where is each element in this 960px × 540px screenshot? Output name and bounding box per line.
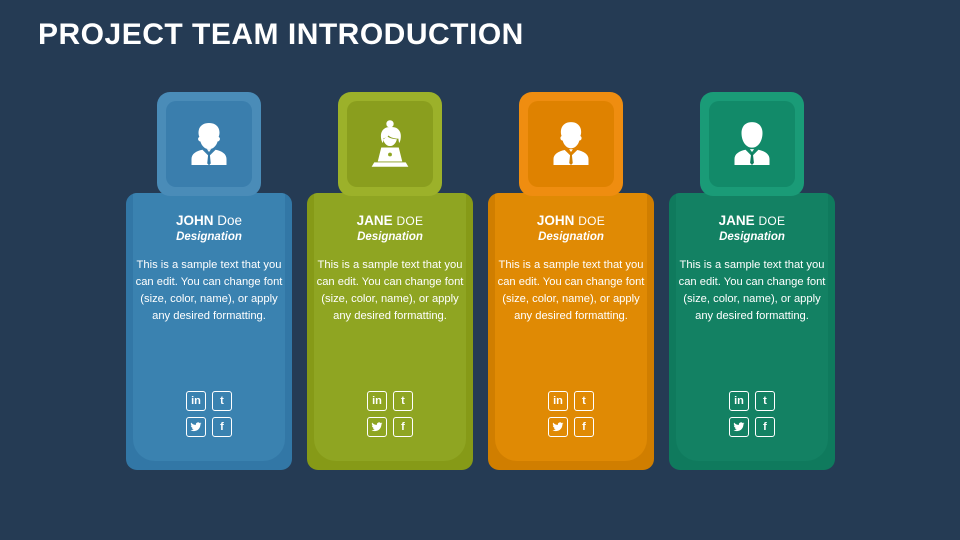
member-first-name: JANE	[719, 213, 755, 228]
member-designation: Designation	[669, 231, 835, 243]
man-silhouette-in-suit-icon	[528, 101, 614, 187]
twitter-icon[interactable]	[367, 417, 387, 437]
team-member-card[interactable]: JOHN Doe Designation This is a sample te…	[126, 92, 292, 470]
member-first-name: JOHN	[537, 213, 575, 228]
member-last-name: DOE	[578, 214, 605, 228]
linkedin-icon[interactable]: in	[548, 391, 568, 411]
team-card-deck: JOHN Doe Designation This is a sample te…	[126, 92, 836, 472]
linkedin-icon[interactable]: in	[729, 391, 749, 411]
slide-canvas: PROJECT TEAM INTRODUCTION JOHN Doe Desig…	[0, 0, 960, 540]
member-card-body: JANE DOE Designation This is a sample te…	[307, 193, 473, 470]
tumblr-icon[interactable]: t	[574, 391, 594, 411]
tumblr-icon[interactable]: t	[755, 391, 775, 411]
linkedin-icon[interactable]: in	[367, 391, 387, 411]
member-designation: Designation	[488, 231, 654, 243]
member-description: This is a sample text that you can edit.…	[126, 257, 292, 325]
member-name: JANE DOE	[669, 213, 835, 229]
member-description: This is a sample text that you can edit.…	[307, 257, 473, 325]
linkedin-icon[interactable]: in	[186, 391, 206, 411]
member-name: JANE DOE	[307, 213, 473, 229]
social-links: intf	[721, 391, 783, 437]
member-avatar-tile	[338, 92, 442, 196]
tumblr-icon[interactable]: t	[212, 391, 232, 411]
member-first-name: JANE	[357, 213, 393, 228]
social-links: intf	[359, 391, 421, 437]
member-name: JOHN DOE	[488, 213, 654, 229]
twitter-icon[interactable]	[729, 417, 749, 437]
member-avatar-tile	[700, 92, 804, 196]
social-links: intf	[178, 391, 240, 437]
member-last-name: DOE	[758, 214, 785, 228]
man-in-suit-with-tie-icon	[166, 101, 252, 187]
member-designation: Designation	[126, 231, 292, 243]
facebook-icon[interactable]: f	[755, 417, 775, 437]
member-avatar-tile	[519, 92, 623, 196]
member-avatar-tile	[157, 92, 261, 196]
twitter-icon[interactable]	[548, 417, 568, 437]
member-card-body: JOHN DOE Designation This is a sample te…	[488, 193, 654, 470]
team-member-card[interactable]: JANE DOE Designation This is a sample te…	[669, 92, 835, 470]
member-card-body: JANE DOE Designation This is a sample te…	[669, 193, 835, 470]
facebook-icon[interactable]: f	[574, 417, 594, 437]
tumblr-icon[interactable]: t	[393, 391, 413, 411]
woman-in-suit-with-tie-icon	[709, 101, 795, 187]
page-title: PROJECT TEAM INTRODUCTION	[38, 18, 524, 52]
member-last-name: DOE	[396, 214, 423, 228]
team-member-card[interactable]: JOHN DOE Designation This is a sample te…	[488, 92, 654, 470]
facebook-icon[interactable]: f	[212, 417, 232, 437]
member-first-name: JOHN	[176, 213, 214, 228]
member-designation: Designation	[307, 231, 473, 243]
member-description: This is a sample text that you can edit.…	[669, 257, 835, 325]
twitter-icon[interactable]	[186, 417, 206, 437]
member-name: JOHN Doe	[126, 213, 292, 229]
member-card-body: JOHN Doe Designation This is a sample te…	[126, 193, 292, 470]
woman-at-laptop-icon	[347, 101, 433, 187]
facebook-icon[interactable]: f	[393, 417, 413, 437]
member-description: This is a sample text that you can edit.…	[488, 257, 654, 325]
member-last-name: Doe	[217, 213, 242, 228]
team-member-card[interactable]: JANE DOE Designation This is a sample te…	[307, 92, 473, 470]
social-links: intf	[540, 391, 602, 437]
